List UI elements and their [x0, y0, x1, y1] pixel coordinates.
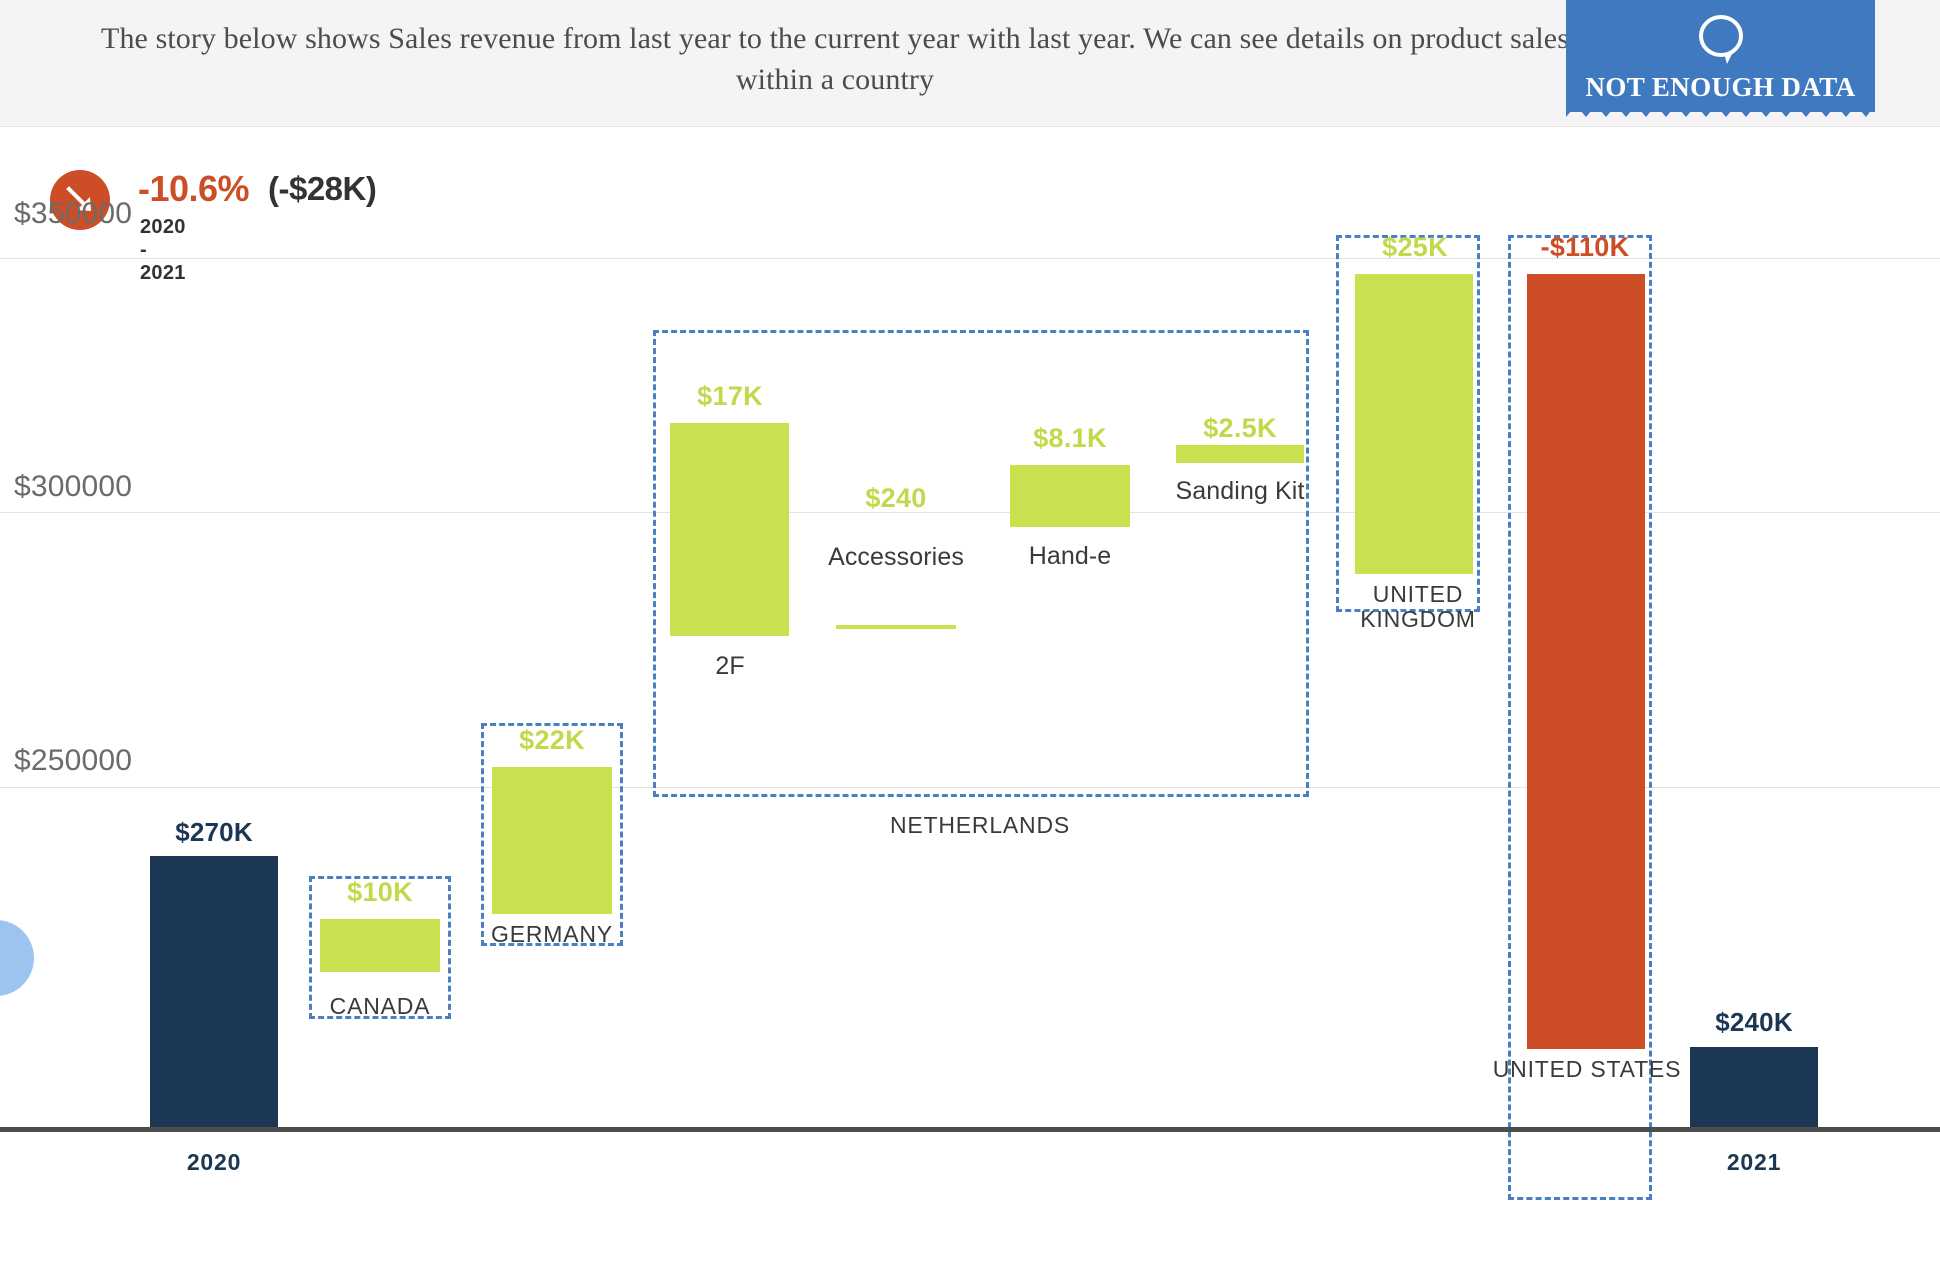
- gridline-250000: [0, 787, 1940, 788]
- bar-canada[interactable]: [320, 919, 440, 972]
- category-label-germany: GERMANY: [452, 921, 652, 948]
- bar-sanding-kit[interactable]: [1176, 445, 1304, 463]
- axis-baseline: [0, 1127, 1940, 1132]
- category-label-united-kingdom: UNITED KINGDOM: [1318, 582, 1518, 632]
- product-label-sanding-kit: Sanding Kit: [1150, 477, 1330, 506]
- category-label-netherlands: NETHERLANDS: [880, 812, 1080, 839]
- badge-label: NOT ENOUGH DATA: [1566, 72, 1875, 103]
- bar-accessories[interactable]: [836, 625, 956, 629]
- bar-united-states[interactable]: [1527, 274, 1645, 1049]
- xtick-label-2021: 2021: [1654, 1149, 1854, 1176]
- bar-value-united-kingdom: $25K: [1325, 232, 1505, 263]
- bar-2f[interactable]: [670, 423, 789, 636]
- bar-germany[interactable]: [492, 767, 612, 914]
- ytick-label-250000: $250000: [14, 744, 132, 778]
- speech-bubble-icon: [1694, 12, 1748, 66]
- bar-2021-total[interactable]: [1690, 1047, 1818, 1127]
- bar-value-germany: $22K: [462, 725, 642, 756]
- bar-value-accessories: $240: [806, 483, 986, 514]
- bar-hand-e[interactable]: [1010, 465, 1130, 527]
- bar-value-canada: $10K: [290, 877, 470, 908]
- xtick-label-2020: 2020: [114, 1149, 314, 1176]
- bar-value-sanding-kit: $2.5K: [1150, 413, 1330, 444]
- bar-united-kingdom[interactable]: [1355, 274, 1473, 574]
- ytick-label-350000: $350000: [14, 197, 132, 231]
- bar-2020-total[interactable]: [150, 856, 278, 1127]
- badge-zigzag-edge: [1566, 103, 1875, 119]
- bar-value-hand-e: $8.1K: [980, 423, 1160, 454]
- narrative-text: The story below shows Sales revenue from…: [100, 18, 1570, 100]
- bar-value-2021: $240K: [1664, 1007, 1844, 1038]
- bar-value-2020: $270K: [104, 817, 324, 848]
- ytick-label-300000: $300000: [14, 470, 132, 504]
- product-label-hand-e: Hand-e: [980, 542, 1160, 571]
- product-label-accessories: Accessories: [806, 543, 986, 572]
- bar-value-united-states: -$110K: [1495, 232, 1675, 263]
- not-enough-data-badge[interactable]: NOT ENOUGH DATA: [1566, 0, 1875, 122]
- category-label-united-states: UNITED STATES: [1487, 1057, 1687, 1082]
- waterfall-chart: $350000 $300000 $250000 $270K $10K CANAD…: [0, 127, 1940, 1274]
- bar-value-2f: $17K: [640, 381, 820, 412]
- product-label-2f: 2F: [640, 652, 820, 681]
- category-label-canada: CANADA: [290, 993, 470, 1020]
